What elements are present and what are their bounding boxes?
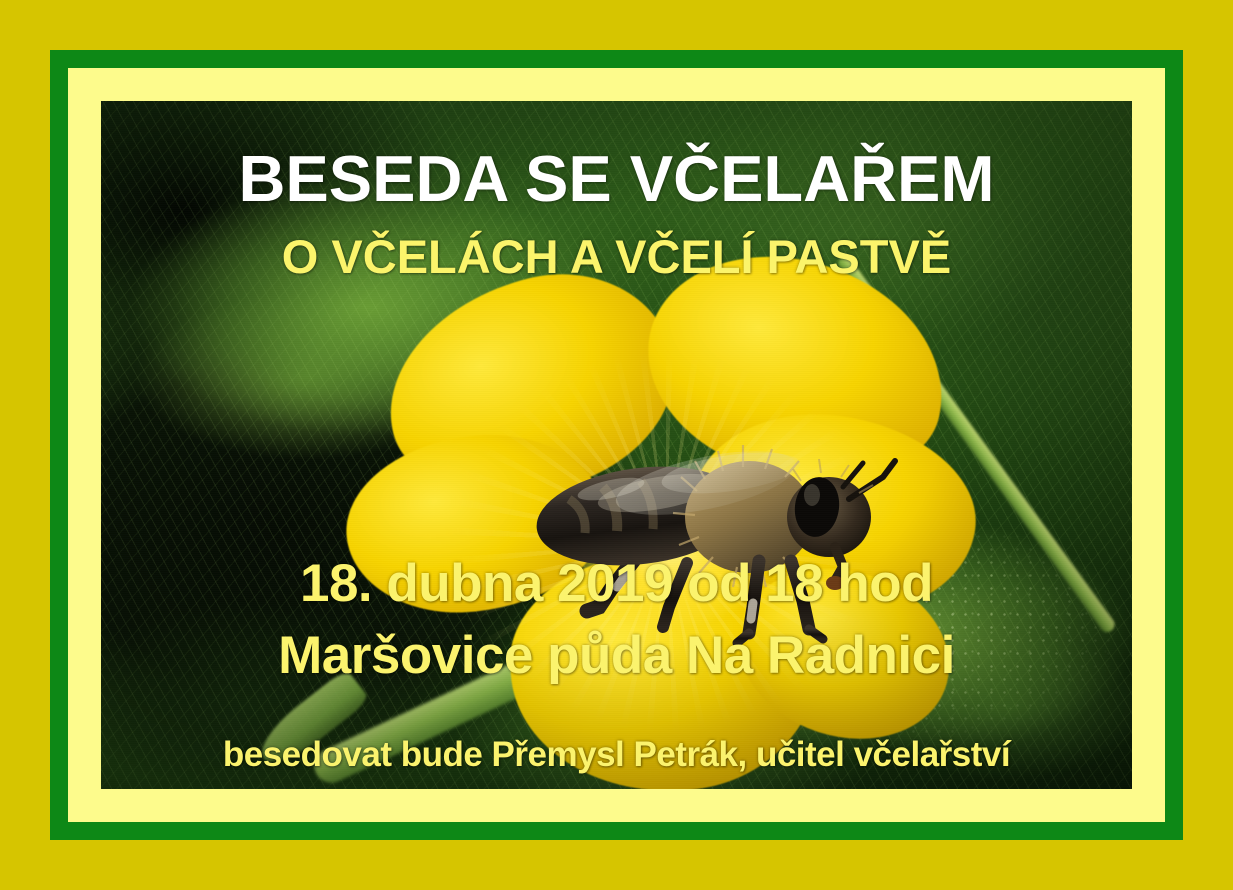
event-speaker-line: besedovat bude Přemysl Petrák, učitel vč… — [101, 735, 1132, 775]
poster-title: BESEDA SE VČELAŘEM — [101, 141, 1132, 216]
photo-frame: BESEDA SE VČELAŘEM O VČELÁCH A VČELÍ PAS… — [101, 101, 1132, 789]
poster-subtitle: O VČELÁCH A VČELÍ PASTVĚ — [101, 229, 1132, 284]
poster: BESEDA SE VČELAŘEM O VČELÁCH A VČELÍ PAS… — [0, 0, 1233, 890]
border-band-cream: BESEDA SE VČELAŘEM O VČELÁCH A VČELÍ PAS… — [68, 68, 1165, 822]
event-date-line: 18. dubna 2019 od 18 hod — [101, 553, 1132, 614]
event-place-line: Maršovice půda Na Radnici — [101, 625, 1132, 686]
poster-text-layer: BESEDA SE VČELAŘEM O VČELÁCH A VČELÍ PAS… — [101, 101, 1132, 789]
border-band-green: BESEDA SE VČELAŘEM O VČELÁCH A VČELÍ PAS… — [50, 50, 1183, 840]
